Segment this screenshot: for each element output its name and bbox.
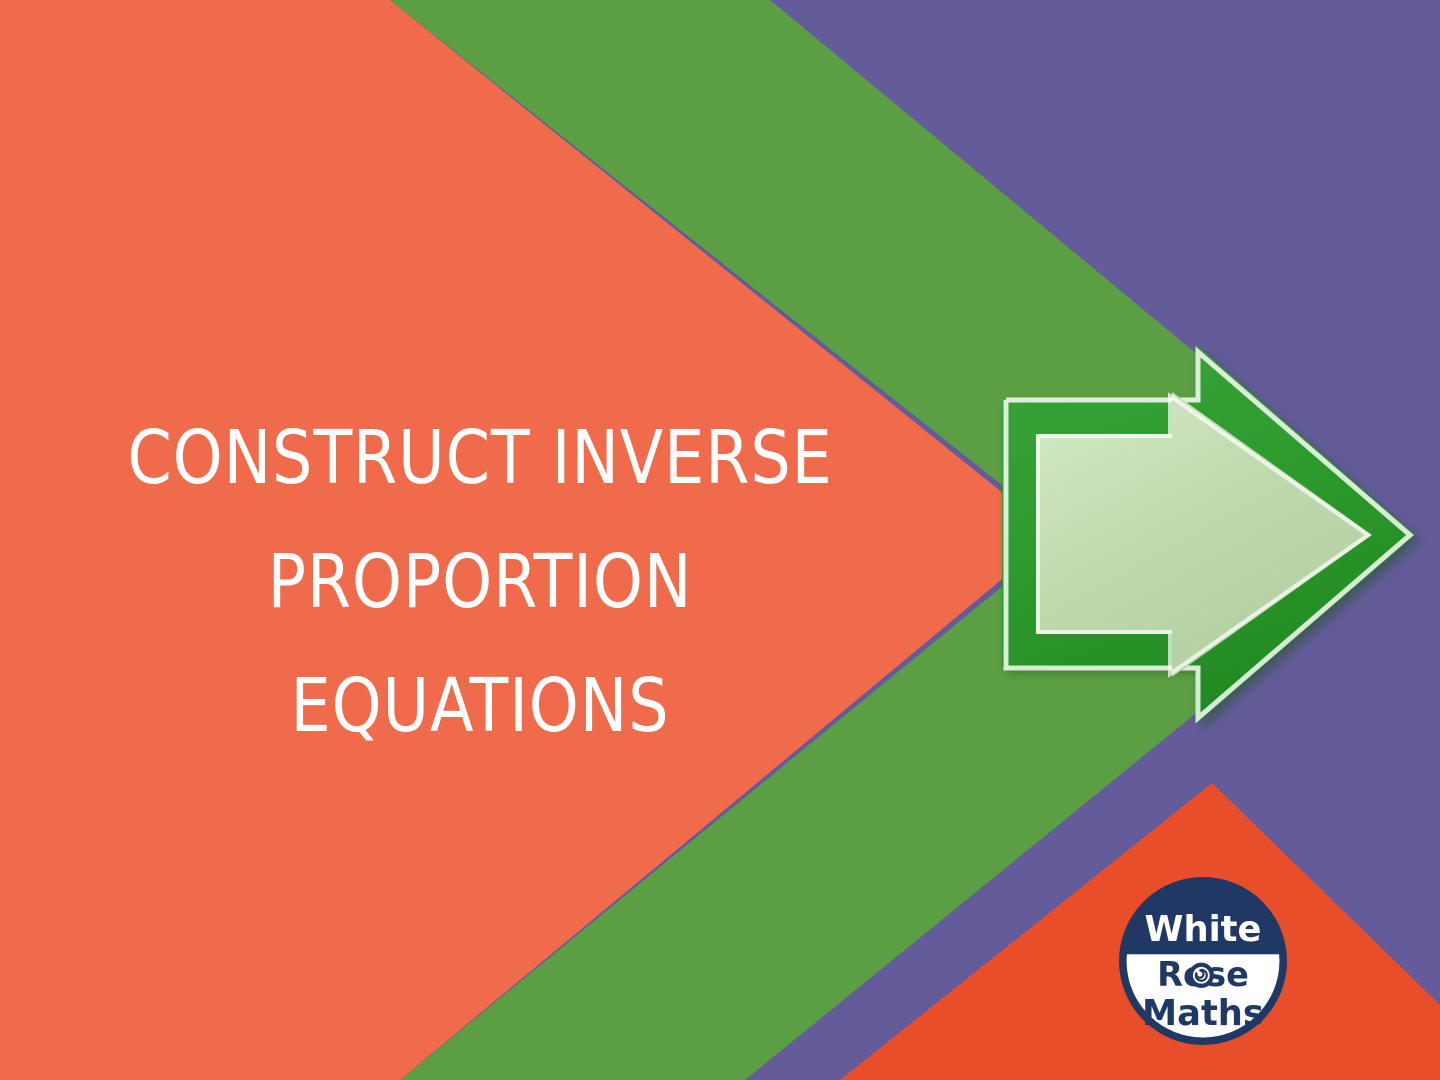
title-slide: CONSTRUCT INVERSE PROPORTION EQUATIONS W… xyxy=(0,0,1440,1080)
rose-icon xyxy=(1191,965,1212,986)
logo-text-white: White xyxy=(1145,909,1262,950)
white-rose-maths-logo: White Rose Maths xyxy=(1119,877,1287,1045)
logo-text-maths: Maths xyxy=(1142,993,1264,1034)
